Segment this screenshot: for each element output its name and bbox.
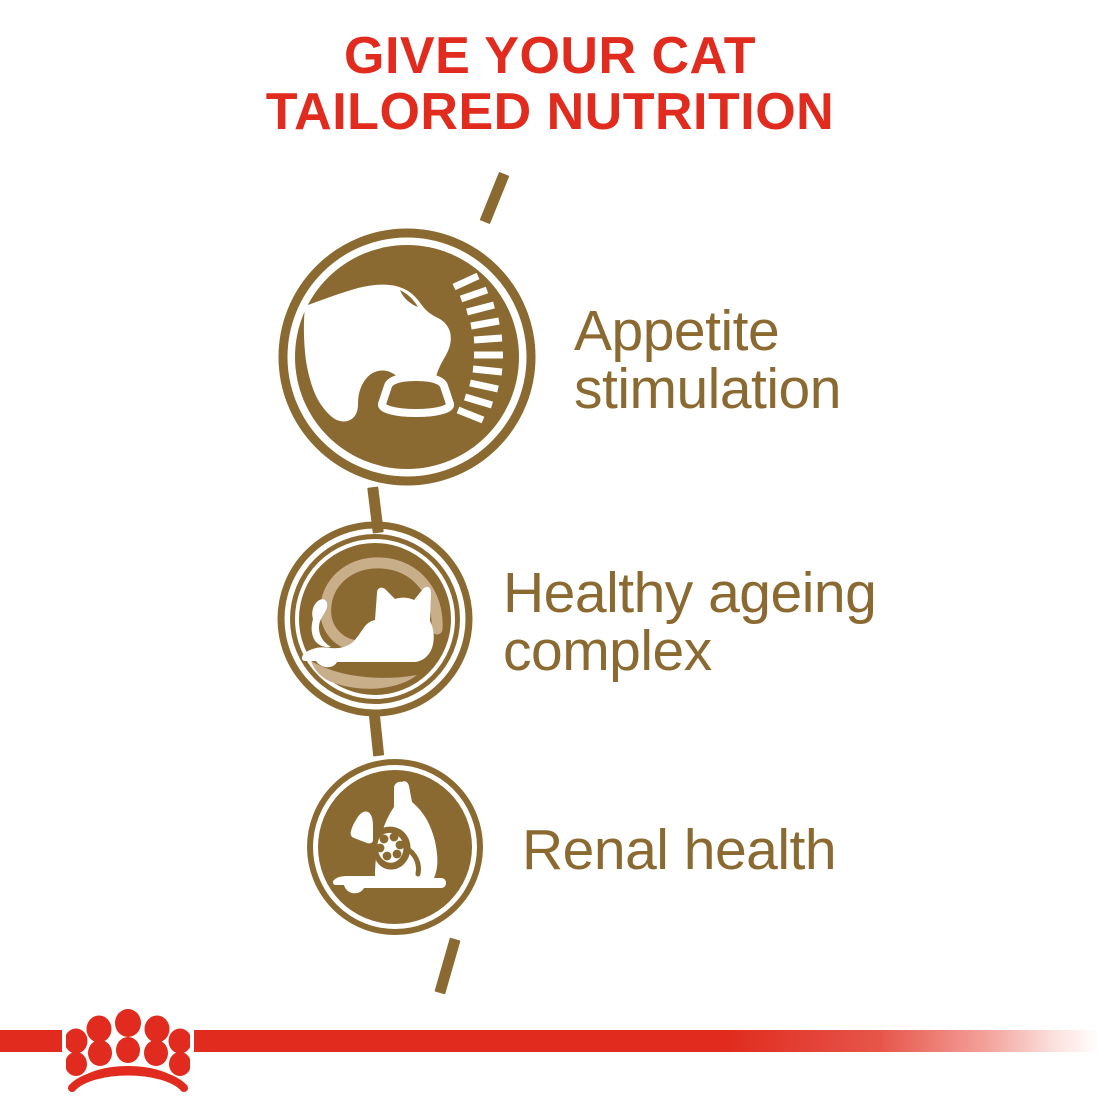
benefit-label-appetite: Appetite stimulation — [574, 302, 841, 418]
cat-kidney-icon — [306, 758, 484, 941]
cat-eating-bowl-icon — [278, 228, 536, 491]
benefit-label-line-1: Renal health — [522, 818, 836, 882]
benefit-label-line-2: stimulation — [574, 360, 841, 418]
promo-panel: GIVE YOUR CAT TAILORED NUTRITION — [0, 0, 1100, 1100]
benefit-label-healthy-ageing: Healthy ageing complex — [503, 564, 876, 680]
benefit-label-line-1: Appetite — [574, 299, 779, 363]
lying-cat-swirl-icon — [277, 521, 473, 722]
benefit-label-line-1: Healthy ageing — [503, 561, 876, 625]
royal-canin-crown-logo — [66, 1008, 190, 1092]
benefit-list: Appetite stimulation — [0, 0, 1100, 1000]
benefit-label-renal-health: Renal health — [522, 821, 836, 879]
benefit-label-line-2: complex — [503, 622, 876, 680]
benefit-item-healthy-ageing[interactable]: Healthy ageing complex — [277, 521, 876, 722]
benefit-item-renal-health[interactable]: Renal health — [306, 758, 836, 941]
benefit-item-appetite[interactable]: Appetite stimulation — [278, 228, 841, 491]
footer — [0, 1000, 1100, 1100]
